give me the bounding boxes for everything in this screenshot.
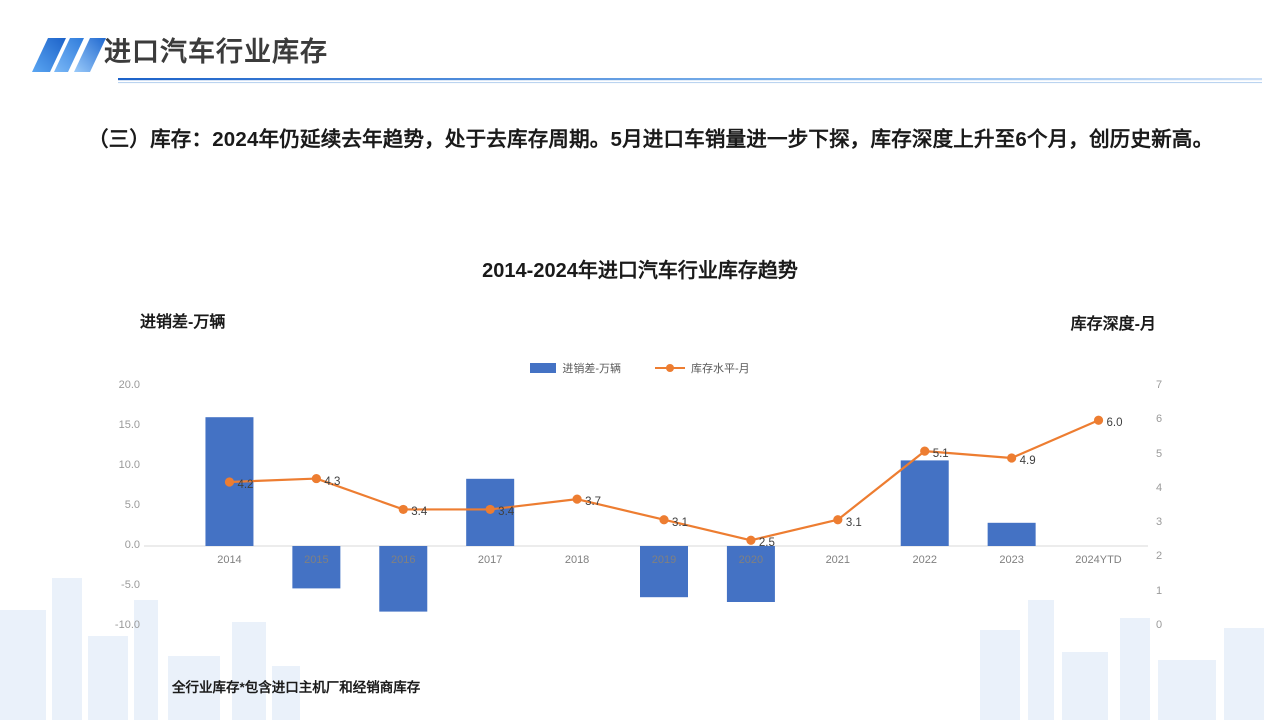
header-underline — [18, 76, 1262, 85]
page-header: 进口汽车行业库存 — [0, 28, 1280, 90]
bar-2022 — [901, 460, 949, 546]
bar-2023 — [988, 523, 1036, 546]
right-axis-title: 库存深度-月 — [1071, 310, 1156, 334]
data-label-2019: 3.1 — [672, 517, 688, 529]
y-axis-tick: -5.0 — [94, 579, 140, 591]
legend-item-bar[interactable]: 进销差-万辆 — [530, 360, 621, 376]
line-point-2020 — [746, 536, 755, 545]
y2-axis-tick: 3 — [1156, 516, 1186, 528]
legend-label-bar: 进销差-万辆 — [562, 360, 621, 376]
x-axis-tick-2017: 2017 — [445, 554, 535, 566]
data-label-2022: 5.1 — [933, 448, 949, 460]
chart-legend: 进销差-万辆 库存水平-月 — [0, 360, 1280, 376]
chart-footnote: 全行业库存*包含进口主机厂和经销商库存 — [172, 676, 420, 696]
data-label-2021: 3.1 — [846, 517, 862, 529]
data-label-2016: 3.4 — [411, 506, 427, 518]
line-point-2017 — [486, 505, 495, 514]
bar-2015 — [292, 546, 340, 588]
chart-title: 2014-2024年进口汽车行业库存趋势 — [0, 254, 1280, 283]
y-axis-tick: 15.0 — [94, 419, 140, 431]
data-label-2020: 2.5 — [759, 537, 775, 549]
data-label-2017: 3.4 — [498, 506, 514, 518]
legend-item-line[interactable]: 库存水平-月 — [655, 360, 750, 376]
three-slash-logo-icon — [18, 36, 110, 76]
y2-axis-tick: 0 — [1156, 619, 1186, 631]
chart-plot-area: 20.015.010.05.00.0-5.0-10.07654321020142… — [0, 386, 1280, 636]
y2-axis-tick: 5 — [1156, 448, 1186, 460]
y-axis-tick: 20.0 — [94, 379, 140, 391]
x-axis-tick-2018: 2018 — [532, 554, 622, 566]
y2-axis-tick: 2 — [1156, 550, 1186, 562]
body-paragraph: （三）库存：2024年仍延续去年趋势，处于去库存周期。5月进口车销量进一步下探，… — [88, 122, 1248, 157]
x-axis-tick-2022: 2022 — [880, 554, 970, 566]
line-point-2019 — [659, 515, 668, 524]
x-axis-tick-2024YTD: 2024YTD — [1054, 554, 1144, 566]
x-axis-tick-2015: 2015 — [271, 554, 361, 566]
chart-container: 2014-2024年进口汽车行业库存趋势 进销差-万辆 库存深度-月 进销差-万… — [0, 238, 1280, 718]
x-axis-tick-2021: 2021 — [793, 554, 883, 566]
line-point-2018 — [572, 495, 581, 504]
line-point-2014 — [225, 477, 234, 486]
legend-line-swatch — [655, 363, 685, 373]
data-label-2023: 4.9 — [1020, 455, 1036, 467]
y2-axis-tick: 7 — [1156, 379, 1186, 391]
x-axis-tick-2020: 2020 — [706, 554, 796, 566]
y-axis-tick: -10.0 — [94, 619, 140, 631]
left-axis-title: 进销差-万辆 — [140, 308, 225, 332]
y2-axis-tick: 4 — [1156, 482, 1186, 494]
x-axis-tick-2014: 2014 — [184, 554, 274, 566]
line-point-2022 — [920, 447, 929, 456]
chart-canvas — [0, 386, 1280, 636]
y-axis-tick: 0.0 — [94, 539, 140, 551]
legend-label-line: 库存水平-月 — [691, 360, 750, 376]
x-axis-tick-2016: 2016 — [358, 554, 448, 566]
data-label-2015: 4.3 — [324, 476, 340, 488]
data-label-2014: 4.2 — [237, 479, 253, 491]
line-point-2015 — [312, 474, 321, 483]
x-axis-tick-2023: 2023 — [967, 554, 1057, 566]
data-label-2024YTD: 6.0 — [1107, 417, 1123, 429]
data-label-2018: 3.7 — [585, 496, 601, 508]
line-point-2016 — [399, 505, 408, 514]
line-point-2021 — [833, 515, 842, 524]
legend-bar-swatch — [530, 363, 556, 373]
line-point-2024YTD — [1094, 416, 1103, 425]
y-axis-tick: 10.0 — [94, 459, 140, 471]
y-axis-tick: 5.0 — [94, 499, 140, 511]
x-axis-tick-2019: 2019 — [619, 554, 709, 566]
page-title: 进口汽车行业库存 — [104, 30, 328, 69]
line-point-2023 — [1007, 453, 1016, 462]
y2-axis-tick: 1 — [1156, 585, 1186, 597]
y2-axis-tick: 6 — [1156, 413, 1186, 425]
